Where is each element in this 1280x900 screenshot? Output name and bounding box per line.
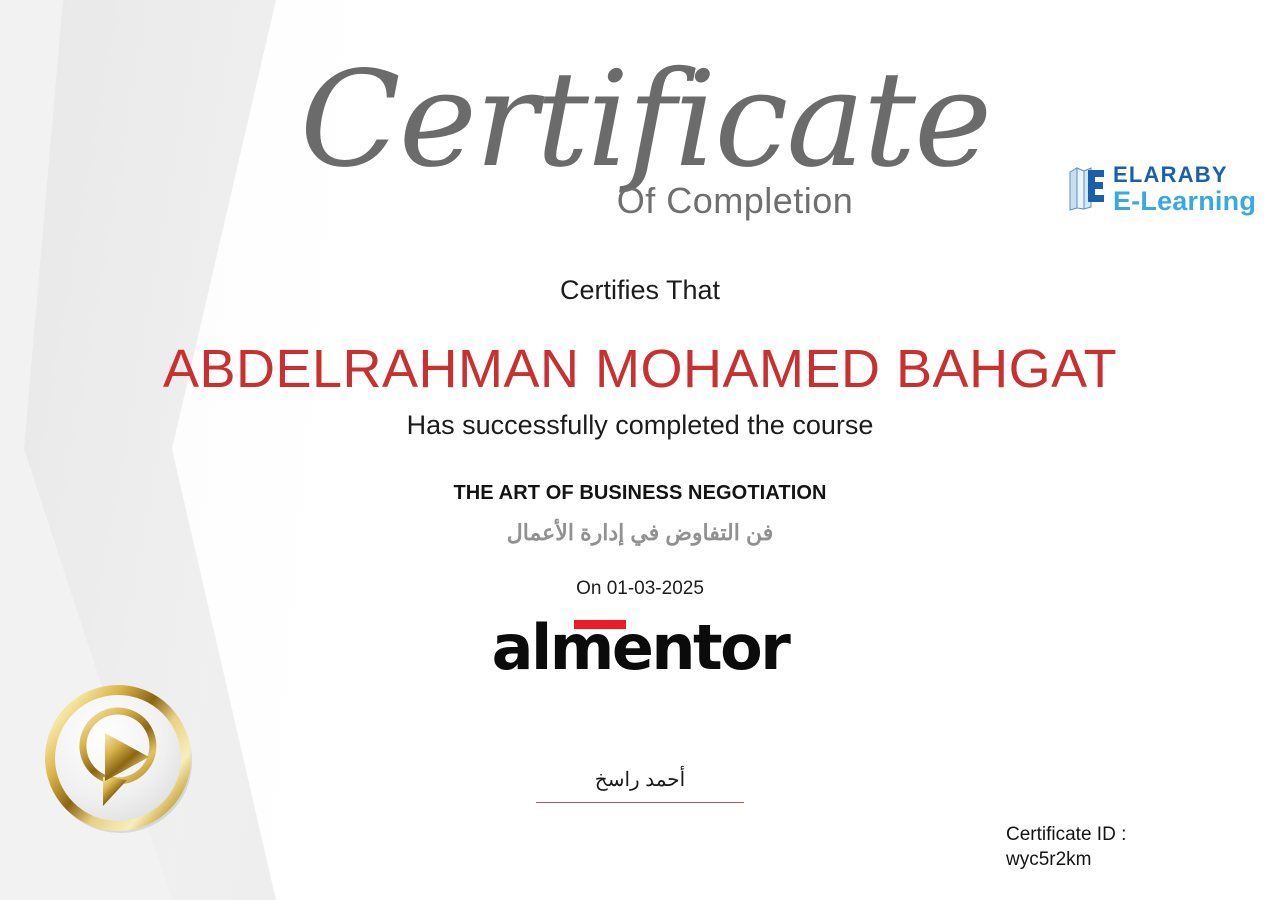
certificate-id-label: Certificate ID : bbox=[1006, 822, 1126, 847]
signature-line bbox=[536, 802, 744, 803]
completion-date: On 01-03-2025 bbox=[0, 578, 1280, 600]
course-title-english: THE ART OF BUSINESS NEGOTIATION bbox=[0, 482, 1280, 505]
recipient-name: ABDELRAHMAN MOHAMED BAHGAT bbox=[0, 338, 1280, 400]
almentor-logo: almentor bbox=[0, 612, 1280, 684]
book-e-icon bbox=[1068, 166, 1108, 212]
completion-statement: Has successfully completed the course bbox=[0, 410, 1280, 441]
certifies-that-label: Certifies That bbox=[0, 275, 1280, 306]
elaraby-logo-line2: E-Learning bbox=[1113, 188, 1256, 215]
certificate-canvas: Certificate Of Completion ELARABY E-Lear… bbox=[0, 0, 1280, 900]
elaraby-wordmark: ELARABY E-Learning bbox=[1113, 164, 1256, 215]
certificate-id-block: Certificate ID : wyc5r2km bbox=[1006, 822, 1126, 872]
course-title-arabic: فن التفاوض في إدارة الأعمال bbox=[0, 520, 1280, 546]
elaraby-logo: ELARABY E-Learning bbox=[1068, 158, 1280, 220]
almentor-wordmark: almentor bbox=[492, 611, 789, 684]
elaraby-logo-line1: ELARABY bbox=[1113, 164, 1256, 186]
almentor-accent-bar bbox=[574, 620, 626, 629]
certificate-id-value: wyc5r2km bbox=[1006, 847, 1126, 872]
gold-play-speech-bubble-medallion bbox=[41, 681, 195, 835]
